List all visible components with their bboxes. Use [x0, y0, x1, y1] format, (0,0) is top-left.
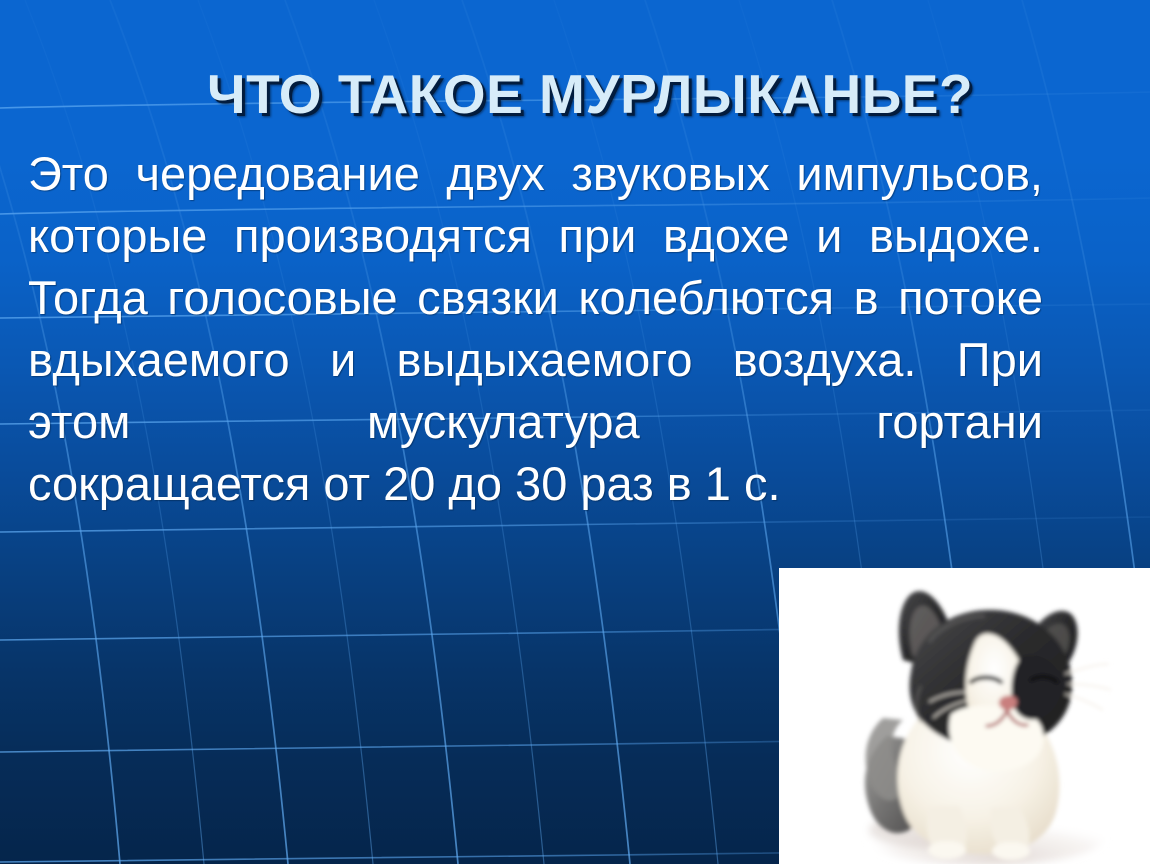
- kitten-photo: [779, 568, 1150, 864]
- slide-body-text: Это чередование двух звуковых импульсов,…: [28, 143, 1043, 515]
- presentation-slide: ЧТО ТАКОЕ МУРЛЫКАНЬЕ? Это чередование дв…: [0, 0, 1150, 864]
- slide-title: ЧТО ТАКОЕ МУРЛЫКАНЬЕ?: [0, 66, 1150, 124]
- body-last-line: сокращается от 20 до 30 раз в 1 с.: [28, 453, 1043, 515]
- body-paragraph: Это чередование двух звуковых импульсов,…: [28, 143, 1043, 453]
